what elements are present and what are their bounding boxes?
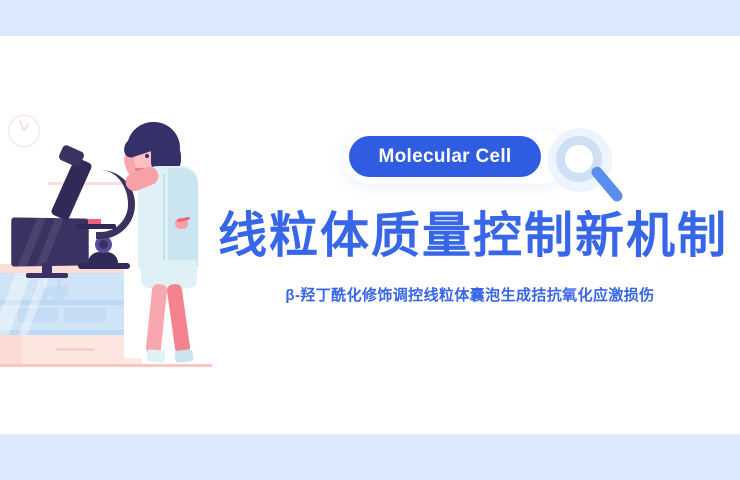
lab-coat-seam [163,174,165,266]
scientist-left-leg [145,283,167,354]
journal-badge-pill[interactable]: Molecular Cell [349,136,541,177]
page-title: 线粒体质量控制新机制 [218,208,722,264]
top-color-band [0,0,740,36]
monitor-base [26,273,68,278]
journal-badge-label: Molecular Cell [378,146,511,168]
scientist-left-shoe [146,349,165,363]
scientist-right-leg [166,283,191,354]
magnifier-lens [565,145,593,173]
counter-drawer [64,308,106,322]
microscope-tube [50,157,93,221]
scientist-eye [145,154,149,158]
female-scientist [105,122,210,367]
scientist-right-shoe [174,349,193,363]
wall-clock-icon [8,115,40,147]
bottom-color-band [0,434,740,480]
scientist-skirt [141,260,197,288]
magnifier-icon [546,126,626,202]
page-subtitle: β-羟丁酰化修饰调控线粒体囊泡生成拮抗氧化应激损伤 [218,284,722,305]
lab-illustration [0,100,215,370]
counter-base-line [56,348,94,351]
journal-banner: Molecular Cell 线粒体质量控制新机制 β-羟丁酰化修饰调控线粒体囊… [0,0,740,480]
microscope-slide [88,219,101,224]
